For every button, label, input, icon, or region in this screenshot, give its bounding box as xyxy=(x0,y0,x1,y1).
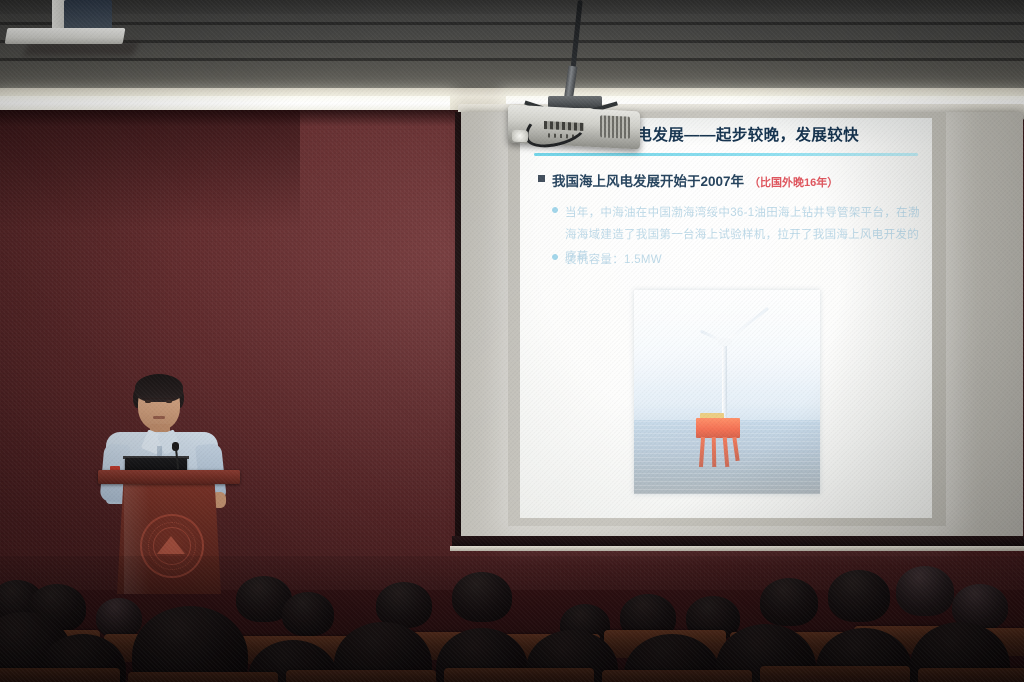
seat-back-front xyxy=(602,670,752,682)
projector-cable xyxy=(570,0,582,72)
projector-vent xyxy=(600,115,630,139)
seat-back-front xyxy=(918,668,1024,682)
seat-back-front xyxy=(444,668,594,682)
seat-back-front xyxy=(760,666,910,682)
presenter-mouth xyxy=(153,416,165,419)
ceiling-device-head xyxy=(64,0,112,30)
dot-bullet-icon xyxy=(552,254,558,260)
ceiling-device-shadow xyxy=(23,42,139,56)
audience-head xyxy=(828,570,890,622)
slide-title-divider xyxy=(534,153,918,156)
projector-lens xyxy=(512,130,528,143)
seat-back-front xyxy=(286,670,436,682)
presenter-eye xyxy=(166,400,172,403)
audience-head xyxy=(896,566,954,616)
lecture-hall-scene: 6、我国海上风电发展——起步较晚，发展较快 我国海上风电发展开始于2007年（比… xyxy=(0,0,1024,682)
emblem-mountain-icon xyxy=(157,536,185,554)
seat-back-front xyxy=(0,668,120,682)
slide-bullet-1-note: （比国外晚16年） xyxy=(749,177,838,189)
lectern-top xyxy=(98,470,240,484)
dot-bullet-icon xyxy=(552,207,558,213)
ceiling-device-body xyxy=(5,28,126,44)
slide-bullet-1-text: 我国海上风电发展开始于2007年（比国外晚16年） xyxy=(552,170,838,190)
audience-head xyxy=(96,598,142,638)
slide-bullet-1: 我国海上风电发展开始于2007年（比国外晚16年） xyxy=(538,170,838,190)
photo-haze xyxy=(634,290,820,494)
seat-back-front xyxy=(128,672,278,682)
screen-bottom-trim xyxy=(450,546,1024,551)
ceiling-device xyxy=(6,0,126,48)
gooseneck-microphone[interactable] xyxy=(172,442,179,451)
audience-head xyxy=(760,578,818,626)
audience-head xyxy=(282,592,334,636)
audience-head xyxy=(452,572,512,622)
wall-left-shadow xyxy=(0,110,300,230)
offshore-wind-turbine-photo xyxy=(634,290,820,494)
audience-head-front xyxy=(132,606,248,682)
slide-bullet-3: 装机容量：1.5MW xyxy=(552,249,662,271)
presenter-eye xyxy=(145,400,151,403)
ceiling-mounted-projector xyxy=(496,0,646,150)
projected-slide: 6、我国海上风电发展——起步较晚，发展较快 我国海上风电发展开始于2007年（比… xyxy=(520,118,932,518)
slide-bullet-3-text: 装机容量：1.5MW xyxy=(565,249,662,271)
square-bullet-icon xyxy=(538,175,545,182)
seated-audience xyxy=(0,556,1024,682)
